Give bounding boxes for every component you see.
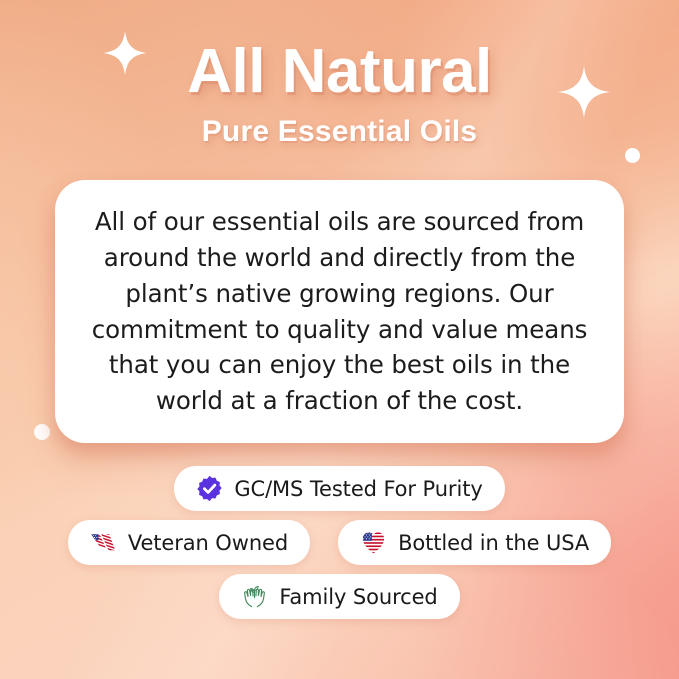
badge-veteran-owned[interactable]: Veteran Owned [68, 520, 310, 565]
badge-row-1: GC/MS Tested For Purity [174, 466, 504, 511]
badge-row-3: Family Sourced [219, 574, 459, 619]
badge-bottled-in-usa[interactable]: Bottled in the USA [338, 520, 611, 565]
infographic-canvas: All Natural Pure Essential Oils All of o… [0, 0, 679, 679]
dot-decoration [34, 424, 50, 440]
page-subtitle: Pure Essential Oils [0, 115, 679, 149]
us-flag-chevron-icon [90, 529, 117, 556]
badge-row-2: Veteran Owned [68, 520, 611, 565]
badge-label: GC/MS Tested For Purity [234, 477, 482, 501]
badge-label: Family Sourced [279, 585, 437, 609]
badge-group: GC/MS Tested For Purity [0, 466, 679, 619]
badge-label: Veteran Owned [128, 531, 288, 555]
description-text: All of our essential oils are sourced fr… [85, 204, 594, 419]
us-flag-heart-icon [360, 529, 387, 556]
dot-decoration [625, 148, 640, 163]
verified-check-icon [196, 475, 223, 502]
heading-block: All Natural Pure Essential Oils [0, 40, 679, 149]
badge-gcms-tested[interactable]: GC/MS Tested For Purity [174, 466, 504, 511]
badge-family-sourced[interactable]: Family Sourced [219, 574, 459, 619]
hands-plant-icon [241, 583, 268, 610]
page-title: All Natural [0, 40, 679, 103]
badge-label: Bottled in the USA [398, 531, 589, 555]
description-card: All of our essential oils are sourced fr… [55, 180, 624, 443]
